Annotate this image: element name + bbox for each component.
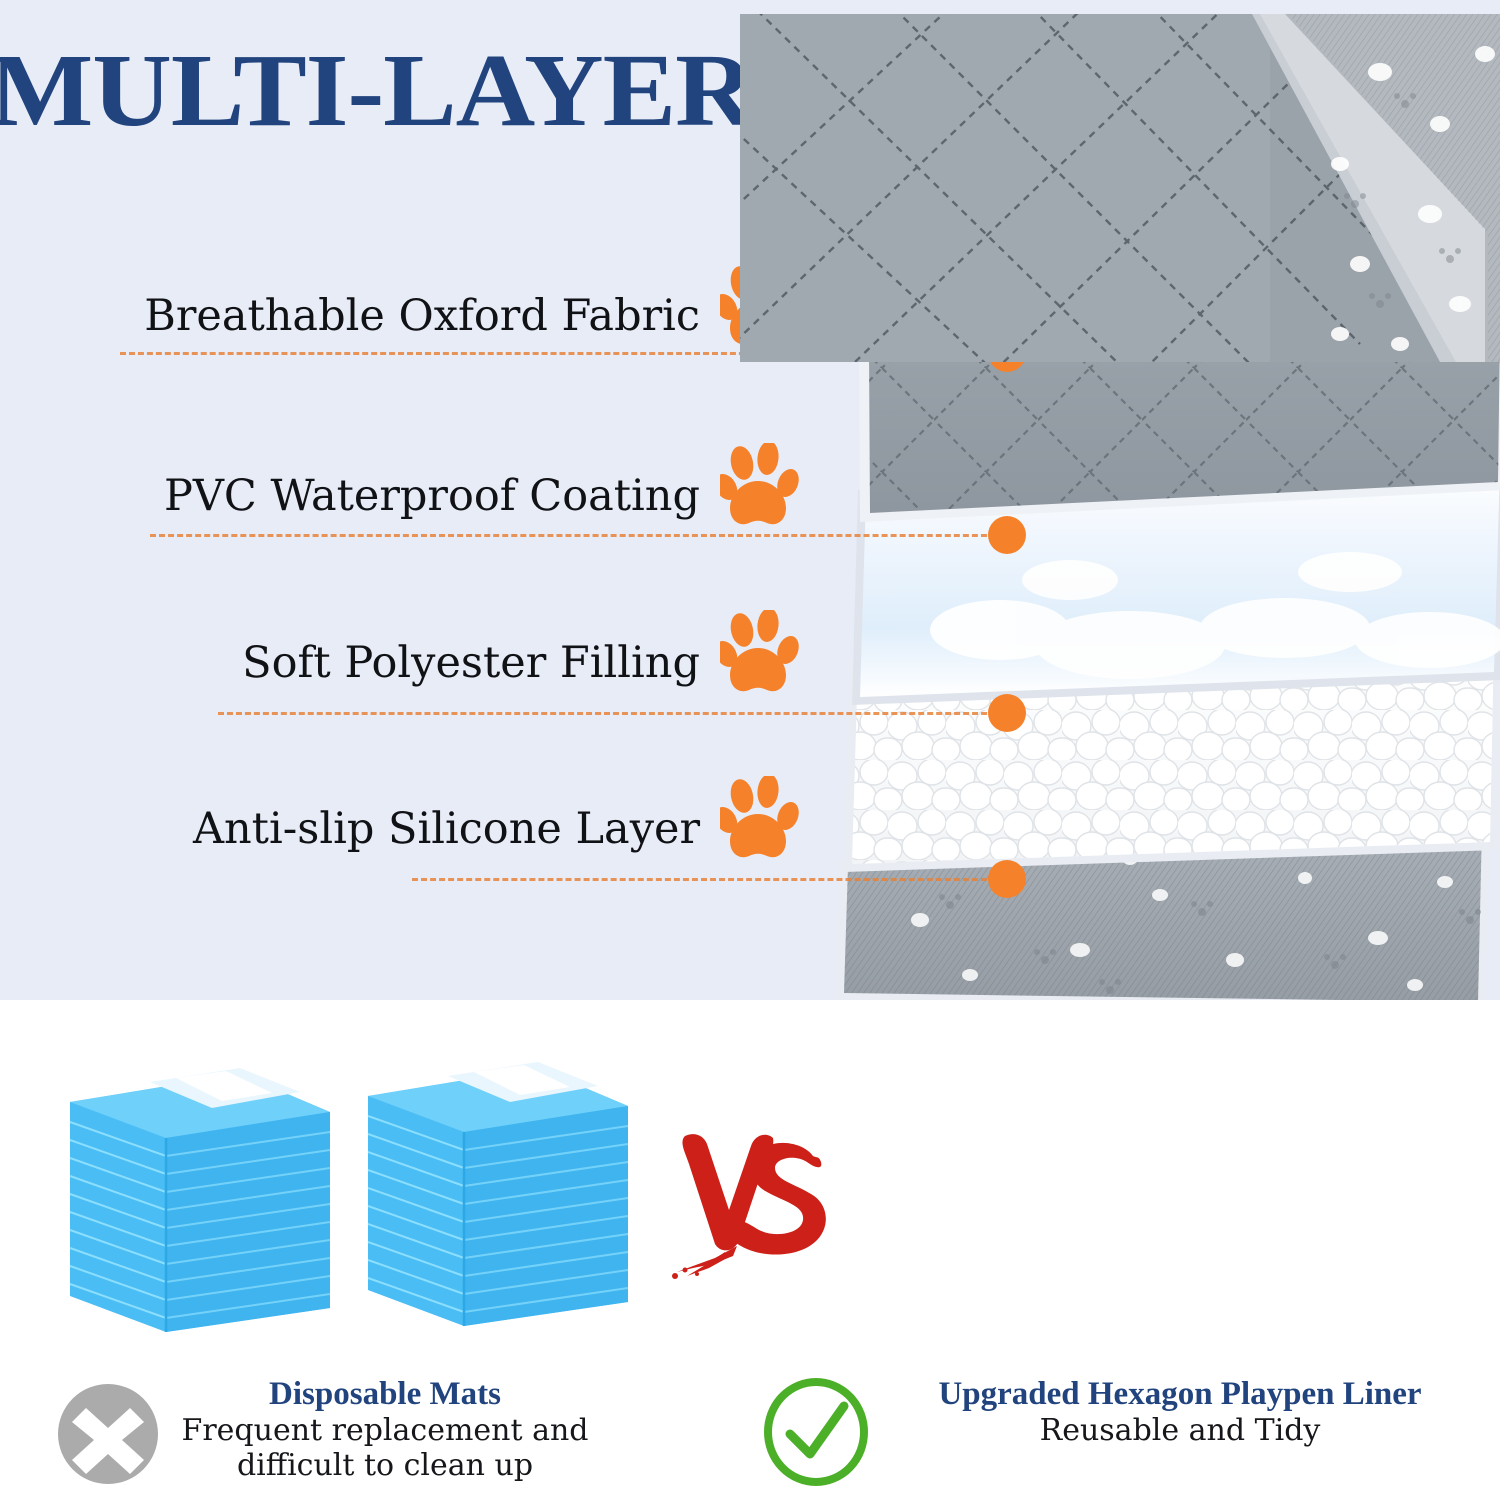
- paw-print-icon: [720, 610, 800, 698]
- paw-print-icon: [720, 443, 800, 531]
- connector-line-4: [412, 878, 1005, 881]
- feature-label: Anti-slip Silicone Layer: [193, 804, 700, 854]
- caption-subtitle-line1: Frequent replacement and: [170, 1413, 600, 1448]
- connector-dot-3: [988, 694, 1026, 732]
- caption-disposable-mats: Disposable Mats Frequent replacement and…: [170, 1376, 600, 1484]
- feature-label: Breathable Oxford Fabric: [144, 291, 700, 341]
- feature-row-pvc-waterproof-coating: PVC Waterproof Coating: [0, 445, 800, 565]
- connector-line-3: [218, 712, 1005, 715]
- x-mark-icon: [56, 1382, 160, 1486]
- caption-playpen-liner: Upgraded Hexagon Playpen Liner Reusable …: [880, 1376, 1480, 1448]
- caption-title: Upgraded Hexagon Playpen Liner: [880, 1376, 1480, 1413]
- caption-subtitle: Reusable and Tidy: [880, 1413, 1480, 1448]
- feature-label: PVC Waterproof Coating: [164, 471, 700, 521]
- check-mark-icon: [762, 1378, 870, 1486]
- connector-dot-2: [988, 516, 1026, 554]
- caption-title: Disposable Mats: [170, 1376, 600, 1413]
- disposable-pee-pad-stacks: [0, 1060, 740, 1360]
- connector-line-2: [150, 534, 1005, 537]
- infographic-page: MULTI-LAYER PROTECTION: [0, 0, 1500, 1491]
- versus-label: [663, 1118, 843, 1298]
- connector-dot-4: [988, 860, 1026, 898]
- quilted-playpen-liner-photo: [740, 14, 1500, 362]
- feature-label: Soft Polyester Filling: [242, 638, 700, 688]
- caption-subtitle-line2: difficult to clean up: [170, 1448, 600, 1483]
- feature-row-breathable-oxford-fabric: Breathable Oxford Fabric: [0, 265, 800, 385]
- paw-print-icon: [720, 776, 800, 864]
